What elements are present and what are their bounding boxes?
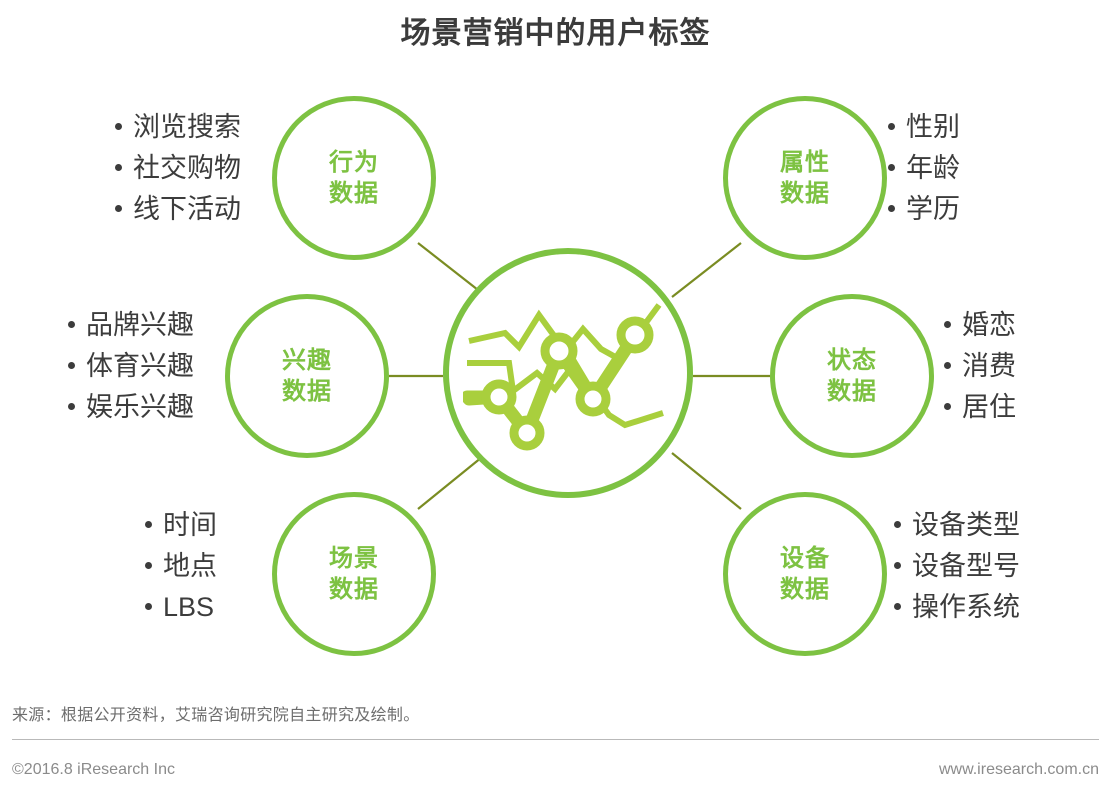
- list-item: 设备类型: [894, 505, 1020, 546]
- node-device-label-line2: 数据: [780, 574, 830, 605]
- bullet-text: 时间: [163, 510, 217, 540]
- connector-attribute: [672, 243, 741, 297]
- bullet-text: 消费: [962, 351, 1016, 381]
- bullet-dot-icon: [888, 205, 895, 212]
- bullet-text: 娱乐兴趣: [86, 392, 194, 422]
- node-behavior[interactable]: 行为 数据: [272, 96, 436, 260]
- node-scene-label-line1: 场景: [329, 543, 379, 574]
- bullet-text: LBS: [163, 592, 214, 622]
- source-note: 来源：根据公开资料，艾瑞咨询研究院自主研究及绘制。: [12, 701, 420, 725]
- bullets-attribute: 性别 年龄 学历: [888, 107, 960, 230]
- bullets-scene: 时间 地点 LBS: [145, 505, 217, 628]
- bullet-dot-icon: [115, 123, 122, 130]
- bullet-dot-icon: [68, 321, 75, 328]
- bullet-dot-icon: [894, 521, 901, 528]
- bullet-text: 操作系统: [912, 592, 1020, 622]
- list-item: 操作系统: [894, 587, 1020, 628]
- list-item: 设备型号: [894, 546, 1020, 587]
- hub-and-spoke-diagram: 行为 数据 浏览搜索 社交购物 线下活动 属性 数据 性别 年龄 学历 兴趣 数…: [0, 0, 1111, 700]
- node-scene-label-line2: 数据: [329, 574, 379, 605]
- bullet-text: 浏览搜索: [133, 112, 241, 142]
- bullets-state: 婚恋 消费 居住: [944, 305, 1016, 428]
- bullet-text: 设备类型: [912, 510, 1020, 540]
- list-item: 学历: [888, 189, 960, 230]
- center-hub-circle[interactable]: [443, 248, 693, 498]
- connector-scene: [418, 453, 487, 509]
- bullet-text: 品牌兴趣: [86, 310, 194, 340]
- bullet-dot-icon: [894, 562, 901, 569]
- bullet-text: 婚恋: [962, 310, 1016, 340]
- bullet-text: 年龄: [906, 153, 960, 183]
- node-interest-label-line2: 数据: [282, 376, 332, 407]
- bullet-dot-icon: [944, 362, 951, 369]
- chart-node-4: [580, 386, 606, 412]
- list-item: 消费: [944, 346, 1016, 387]
- bullet-dot-icon: [145, 603, 152, 610]
- list-item: 线下活动: [115, 189, 241, 230]
- chart-node-2: [514, 420, 540, 446]
- line-chart-icon: [463, 293, 673, 453]
- bullet-dot-icon: [944, 321, 951, 328]
- list-item: 性别: [888, 107, 960, 148]
- list-item: 体育兴趣: [68, 346, 194, 387]
- copyright-text: ©2016.8 iResearch Inc: [12, 761, 175, 779]
- footer-divider: [12, 739, 1099, 740]
- bullet-dot-icon: [115, 164, 122, 171]
- node-behavior-label-line1: 行为: [329, 147, 379, 178]
- list-item: 品牌兴趣: [68, 305, 194, 346]
- bullet-text: 线下活动: [133, 194, 241, 224]
- bullet-dot-icon: [68, 362, 75, 369]
- bullet-dot-icon: [944, 403, 951, 410]
- bullets-interest: 品牌兴趣 体育兴趣 娱乐兴趣: [68, 305, 194, 428]
- node-device-label-line1: 设备: [780, 543, 830, 574]
- node-device[interactable]: 设备 数据: [723, 492, 887, 656]
- bullets-behavior: 浏览搜索 社交购物 线下活动: [115, 107, 241, 230]
- bullet-text: 社交购物: [133, 153, 241, 183]
- chart-node-5: [621, 321, 649, 349]
- node-attribute[interactable]: 属性 数据: [723, 96, 887, 260]
- node-state-label-line2: 数据: [827, 376, 877, 407]
- bullet-text: 体育兴趣: [86, 351, 194, 381]
- bullet-dot-icon: [145, 521, 152, 528]
- chart-node-3: [545, 337, 573, 365]
- website-link[interactable]: www.iresearch.com.cn: [939, 761, 1099, 779]
- node-attribute-label-line2: 数据: [780, 178, 830, 209]
- node-behavior-label-line2: 数据: [329, 178, 379, 209]
- bullet-text: 居住: [962, 392, 1016, 422]
- bullet-text: 设备型号: [912, 551, 1020, 581]
- bullet-text: 地点: [163, 551, 217, 581]
- list-item: 婚恋: [944, 305, 1016, 346]
- bullet-dot-icon: [888, 164, 895, 171]
- node-interest-label-line1: 兴趣: [282, 345, 332, 376]
- node-interest[interactable]: 兴趣 数据: [225, 294, 389, 458]
- list-item: 地点: [145, 546, 217, 587]
- list-item: 居住: [944, 387, 1016, 428]
- bullet-dot-icon: [145, 562, 152, 569]
- node-scene[interactable]: 场景 数据: [272, 492, 436, 656]
- list-item: LBS: [145, 587, 217, 628]
- bullet-text: 学历: [906, 194, 960, 224]
- bullet-dot-icon: [68, 403, 75, 410]
- node-state[interactable]: 状态 数据: [770, 294, 934, 458]
- list-item: 时间: [145, 505, 217, 546]
- chart-node-1: [486, 384, 512, 410]
- list-item: 娱乐兴趣: [68, 387, 194, 428]
- bullet-dot-icon: [888, 123, 895, 130]
- list-item: 浏览搜索: [115, 107, 241, 148]
- bullets-device: 设备类型 设备型号 操作系统: [894, 505, 1020, 628]
- bullet-text: 性别: [906, 112, 960, 142]
- list-item: 年龄: [888, 148, 960, 189]
- bullet-dot-icon: [894, 603, 901, 610]
- node-state-label-line1: 状态: [827, 345, 877, 376]
- connector-device: [672, 453, 741, 509]
- list-item: 社交购物: [115, 148, 241, 189]
- bullet-dot-icon: [115, 205, 122, 212]
- node-attribute-label-line1: 属性: [780, 147, 830, 178]
